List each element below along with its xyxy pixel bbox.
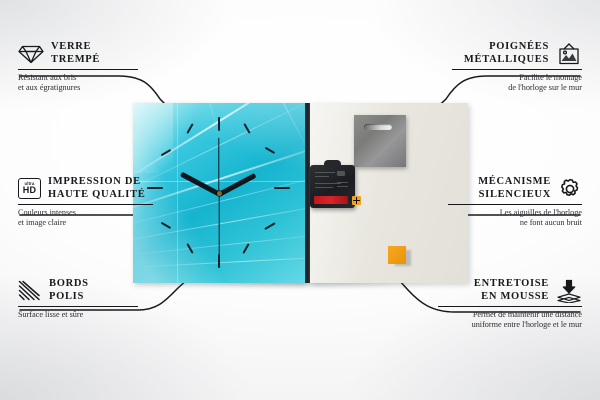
callout-title: IMPRESSION DE HAUTE QUALITÉ	[48, 176, 146, 201]
foam-spacer-arrow-icon	[556, 279, 582, 303]
polished-edge-icon	[18, 280, 42, 301]
callout-description: Facilite le montage de l'horloge sur le …	[452, 73, 582, 93]
callout-divider	[18, 69, 138, 70]
clock-tick	[265, 147, 275, 154]
callout-verre-trempe: VERRE TREMPÉ Résistant aux bris et aux é…	[18, 41, 138, 93]
callout-poignees-metalliques: POIGNÉES MÉTALLIQUES Facilite le montage…	[452, 41, 582, 93]
callout-title: POIGNÉES MÉTALLIQUES	[464, 41, 549, 66]
clock-center-hub	[217, 191, 222, 196]
battery-plus-marker	[352, 196, 361, 205]
clock-tick	[242, 243, 249, 253]
hanger-slot	[364, 124, 392, 130]
callout-divider	[448, 204, 582, 205]
gear-icon	[558, 177, 582, 201]
callout-description: Surface lisse et sûre	[18, 310, 138, 320]
callout-title: MÉCANISME SILENCIEUX	[478, 176, 551, 201]
callout-description: Couleurs intenses et image claire	[18, 208, 153, 228]
callout-divider	[452, 69, 582, 70]
callout-impression-haute-qualite: ultra HD IMPRESSION DE HAUTE QUALITÉ Cou…	[18, 176, 153, 228]
clock-tick	[264, 222, 275, 230]
product-illustration	[133, 103, 468, 288]
foam-spacer	[388, 246, 406, 264]
metal-hanger-plate	[354, 115, 406, 167]
callout-description: Permet de maintenir une distance uniform…	[438, 310, 582, 330]
clock-tick	[218, 254, 220, 268]
callout-mecanisme-silencieux: MÉCANISME SILENCIEUX Les aiguilles de l'…	[448, 176, 582, 228]
ultra-hd-icon: ultra HD	[18, 178, 41, 199]
diamond-icon	[18, 44, 44, 64]
callout-title: VERRE TREMPÉ	[51, 41, 100, 66]
clock-mechanism	[310, 165, 355, 208]
clock-tick	[161, 222, 171, 229]
clock-second-hand	[218, 194, 219, 256]
infographic-canvas: VERRE TREMPÉ Résistant aux bris et aux é…	[0, 0, 600, 400]
callout-title: ENTRETOISE EN MOUSSE	[474, 278, 549, 303]
clock-tick	[186, 123, 193, 133]
clock-second-hand-tail	[218, 138, 219, 194]
callout-divider	[18, 306, 138, 307]
ultra-hd-icon-main-text: HD	[23, 186, 37, 195]
glass-clock-face	[133, 103, 305, 283]
battery	[314, 196, 348, 204]
callout-description: Résistant aux bris et aux égratignures	[18, 73, 138, 93]
callout-entretoise-en-mousse: ENTRETOISE EN MOUSSE Permet de maintenir…	[438, 278, 582, 330]
callout-divider	[438, 306, 582, 307]
clock-tick	[218, 117, 220, 131]
mechanism-tab	[324, 160, 341, 167]
callout-title: BORDS POLIS	[49, 278, 89, 303]
wall-hanger-frame-icon	[556, 43, 582, 65]
callout-bords-polis: BORDS POLIS Surface lisse et sûre	[18, 278, 138, 320]
callout-divider	[18, 204, 153, 205]
callout-description: Les aiguilles de l'horloge ne font aucun…	[448, 208, 582, 228]
clock-tick	[274, 187, 290, 189]
clock-minute-hand	[180, 172, 220, 196]
